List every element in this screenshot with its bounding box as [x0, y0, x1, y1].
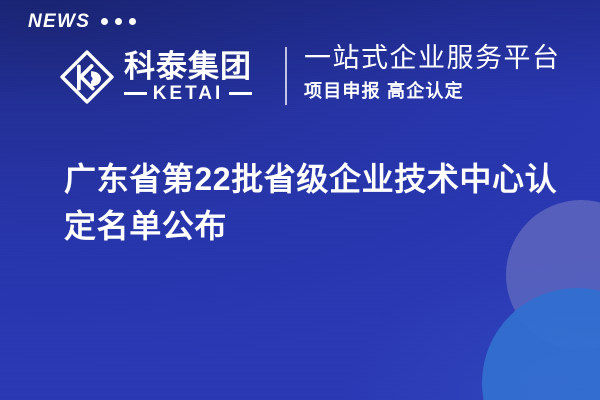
dot-icon-3 [129, 18, 136, 25]
tagline-block: 一站式企业服务平台 项目申报 高企认定 [304, 42, 561, 103]
brand-rule-left [124, 92, 147, 95]
brand-name-en-row: KETAI [124, 84, 252, 103]
headline-text: 广东省第22批省级企业技术中心认定名单公布 [64, 156, 569, 249]
news-label: NEWS [28, 12, 90, 31]
news-banner: NEWS 科泰集团 KETAI [0, 0, 600, 400]
brand-rule-right [229, 92, 252, 95]
brand-name-en: KETAI [153, 84, 224, 103]
tagline-main: 一站式企业服务平台 [304, 42, 561, 75]
dot-icon-1 [101, 18, 108, 25]
ketai-diamond-monogram-icon [58, 48, 116, 106]
news-eyebrow: NEWS [28, 12, 136, 31]
eyebrow-dots [101, 18, 136, 25]
vertical-divider [285, 47, 287, 105]
brand-name-cn: 科泰集团 [124, 51, 252, 83]
dot-icon-2 [115, 18, 122, 25]
brand-lockup: 科泰集团 KETAI [58, 44, 252, 110]
brand-text-block: 科泰集团 KETAI [124, 51, 252, 104]
tagline-sub: 项目申报 高企认定 [304, 79, 561, 103]
